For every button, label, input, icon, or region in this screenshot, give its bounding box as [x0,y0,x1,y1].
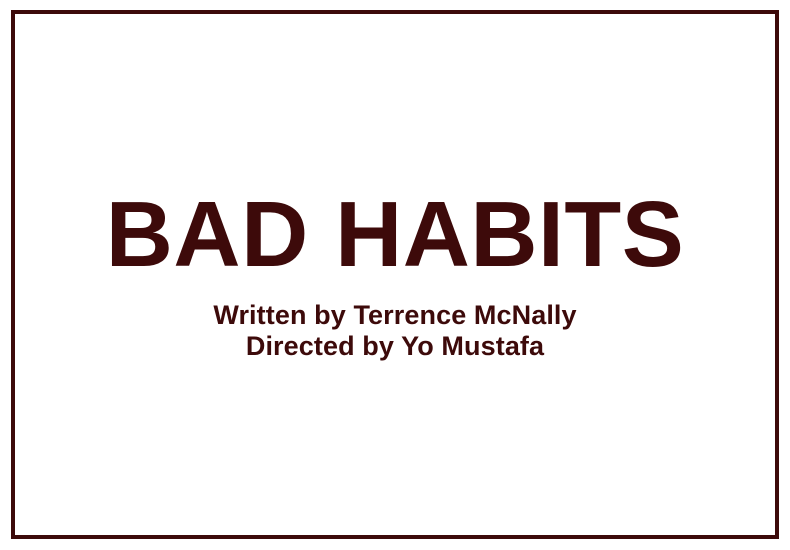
page-title: BAD HABITS [0,186,790,282]
content-block: BAD HABITS Written by Terrence McNally D… [0,0,790,550]
title-card: BAD HABITS Written by Terrence McNally D… [0,0,790,550]
credit-line-director: Directed by Yo Mustafa [0,331,790,362]
credits-block: Written by Terrence McNally Directed by … [0,300,790,362]
credit-line-writer: Written by Terrence McNally [0,300,790,331]
